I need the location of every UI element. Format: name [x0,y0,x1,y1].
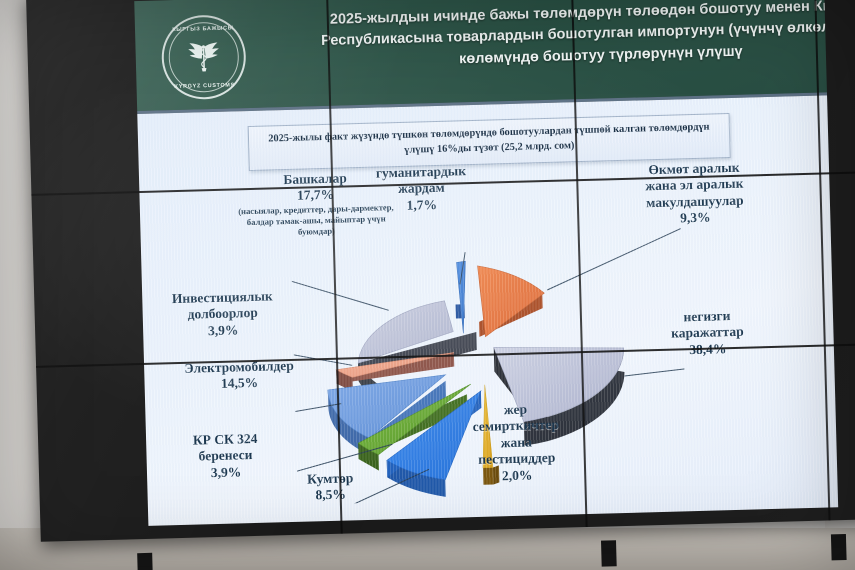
logo-bottom-text: KYRGYZ CUSTOMS [164,82,244,90]
label-zher-semirtkichter: жер семирткичтер жана пестициддер 2,0% [445,400,587,486]
logo-top-text: КЫРГЫЗ БАЖЫСЫ [163,25,243,33]
label-kr-sk-324: КР СК 324 беренеси 3,9% [160,430,291,483]
subtitle-text: 2025-жылы факт жүзүндө түшкөн төлөмдөрүн… [259,120,720,162]
video-wall-display: КЫРГЫЗ БАЖЫСЫ KYRGYZ CUSTOMS 2025-жылдын… [26,0,855,560]
video-wall-leg [137,553,153,570]
label-investitsiyaluk-dolboorlor: Инвестициялык долбоорлор 3,9% [152,288,293,341]
video-wall-leg [601,540,617,566]
label-gumanitardyk-zhardam: гуманитардык жардам 1,7% [361,163,482,216]
label-negizgi-karazhattar: негизги каражаттар 38,4% [637,307,778,360]
label-okmot-araluk: Өкмөт аралык жана эл аралык макулдашуула… [609,159,781,229]
kyrgyz-customs-logo: КЫРГЫЗ БАЖЫСЫ KYRGYZ CUSTOMS [161,14,247,100]
label-kumtor: Кумтөр 8,5% [275,469,386,505]
screenshot-root: КЫРГЫЗ БАЖЫСЫ KYRGYZ CUSTOMS 2025-жылдын… [0,0,855,570]
logo-inner-ring [168,21,240,93]
caduceus-wings-icon [180,37,227,78]
presentation-slide: 2025-жылы факт жүзүндө түшкөн төлөмдөрүн… [137,95,838,526]
video-wall-leg [831,534,847,560]
presentation-title: 2025-жылдын ичинде бажы төлөмдөрүн төлөө… [285,0,827,75]
